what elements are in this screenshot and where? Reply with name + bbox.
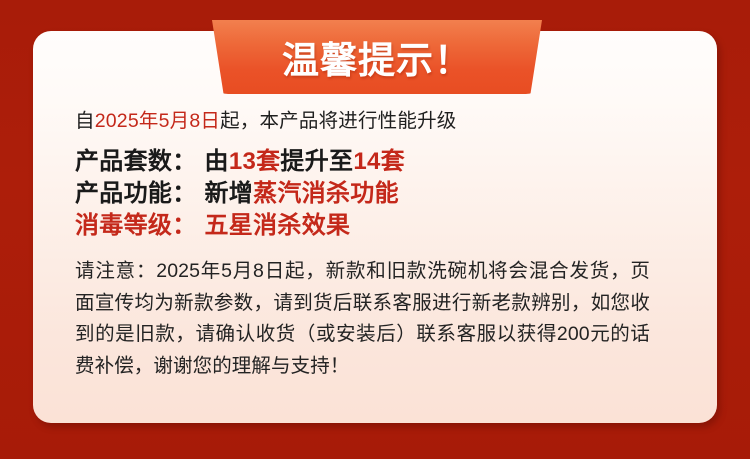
spec-highlight-1: 蒸汽消杀功能 [253,180,399,207]
spec-plain-middle: 提升至 [280,148,353,175]
spec-list: 产品套数：由13套提升至14套 产品功能：新增蒸汽消杀功能 消毒等级：五星消杀效… [75,146,675,242]
intro-prefix: 自 [75,110,95,132]
notice-paragraph: 请注意：2025年5月8日起，新款和旧款洗碗机将会混合发货，页面宣传均为新款参数… [75,256,650,382]
notice-body: 自2025年5月8日起，本产品将进行性能升级 产品套数：由13套提升至14套 产… [75,106,675,382]
spec-label: 消毒等级： [75,212,197,239]
intro-line: 自2025年5月8日起，本产品将进行性能升级 [75,106,675,136]
spec-plain-before: 由 [205,148,229,175]
spec-label: 产品套数： [75,148,197,175]
spec-highlight-2: 14套 [353,148,405,175]
spec-plain-before: 新增 [205,180,254,207]
spec-highlight-1: 13套 [229,148,281,175]
spec-row-product-sets: 产品套数：由13套提升至14套 [75,146,675,178]
intro-date: 2025年5月8日 [95,110,220,132]
notice-card: 自2025年5月8日起，本产品将进行性能升级 产品套数：由13套提升至14套 产… [33,31,717,423]
spec-highlight-1: 五星消杀效果 [205,212,351,239]
promo-poster: 自2025年5月8日起，本产品将进行性能升级 产品套数：由13套提升至14套 产… [0,0,750,459]
spec-label: 产品功能： [75,180,197,207]
spec-row-disinfection-level: 消毒等级：五星消杀效果 [75,210,675,242]
spec-row-product-function: 产品功能：新增蒸汽消杀功能 [75,178,675,210]
intro-suffix: 起，本产品将进行性能升级 [220,110,456,132]
